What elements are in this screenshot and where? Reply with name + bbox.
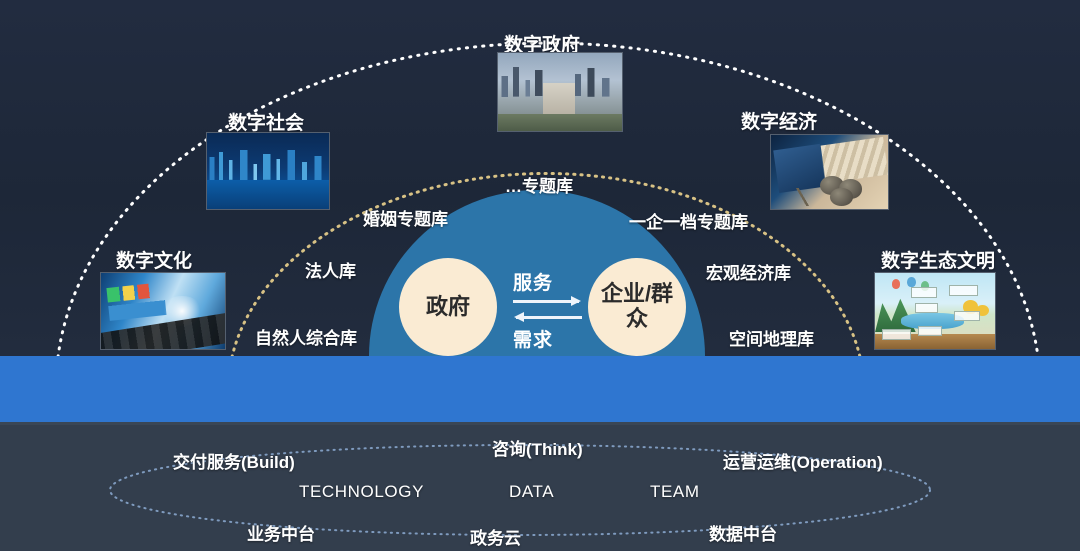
diagram-canvas: 政府 企业/群众 服务 需求 婚姻专题库 …专题库 一企一档专题库 法人库 宏观… bbox=[0, 0, 1080, 551]
picture-label-culture: 数字文化 bbox=[116, 246, 192, 273]
db-label-marriage: 婚姻专题库 bbox=[363, 205, 448, 230]
capability-label-team: TEAM bbox=[650, 482, 700, 502]
capability-label-operation: 运营运维(Operation) bbox=[723, 448, 883, 473]
db-label-enterprise: 一企一档专题库 bbox=[629, 208, 748, 233]
capability-label-think: 咨询(Think) bbox=[492, 435, 583, 460]
thumbnail-digital-culture[interactable] bbox=[100, 272, 226, 350]
db-label-geo: 空间地理库 bbox=[729, 325, 814, 350]
picture-label-eco: 数字生态文明 bbox=[881, 246, 995, 273]
capability-label-gov-cloud: 政务云 bbox=[470, 524, 521, 549]
service-arrow-label: 服务 bbox=[513, 268, 553, 295]
circle-enterprise-public-label: 企业/群众 bbox=[600, 282, 674, 331]
demand-arrow-icon bbox=[516, 316, 582, 319]
thumbnail-digital-government[interactable] bbox=[497, 52, 623, 132]
thumbnail-digital-eco-civilization[interactable] bbox=[874, 272, 996, 350]
picture-label-economy: 数字经济 bbox=[741, 107, 817, 134]
picture-label-society: 数字社会 bbox=[228, 108, 304, 135]
platform-band bbox=[0, 356, 1080, 422]
db-label-macro: 宏观经济库 bbox=[706, 259, 791, 284]
circle-enterprise-public[interactable]: 企业/群众 bbox=[588, 258, 686, 356]
db-label-person: 自然人综合库 bbox=[255, 324, 357, 349]
thumbnail-digital-society[interactable] bbox=[206, 132, 330, 210]
capability-label-build: 交付服务(Build) bbox=[173, 448, 295, 473]
service-arrow-icon bbox=[513, 300, 579, 303]
capability-label-data: DATA bbox=[509, 482, 554, 502]
demand-arrow-label: 需求 bbox=[513, 325, 553, 352]
capability-label-business-platform: 业务中台 bbox=[247, 520, 315, 545]
capability-label-technology: TECHNOLOGY bbox=[299, 482, 424, 502]
circle-government-label: 政府 bbox=[426, 295, 470, 320]
capability-label-data-platform: 数据中台 bbox=[709, 520, 777, 545]
db-label-legal: 法人库 bbox=[305, 257, 356, 282]
circle-government[interactable]: 政府 bbox=[399, 258, 497, 356]
thumbnail-digital-economy[interactable] bbox=[770, 134, 889, 210]
db-label-thematic: …专题库 bbox=[505, 172, 573, 197]
